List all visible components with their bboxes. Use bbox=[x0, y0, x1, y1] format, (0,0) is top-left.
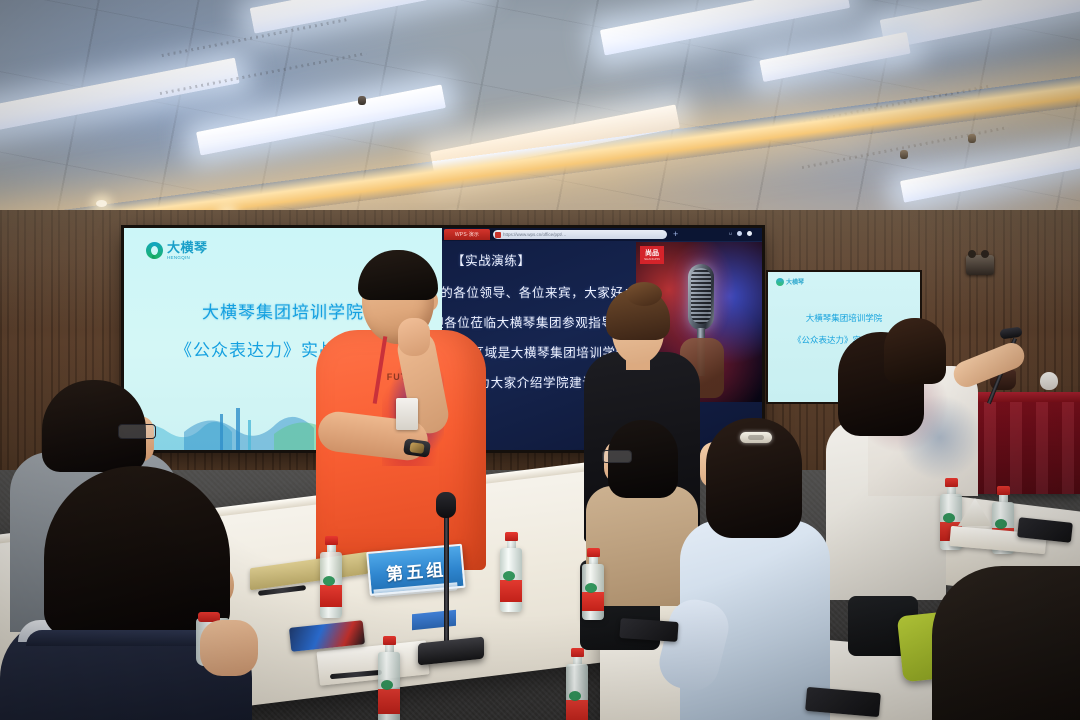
attendee-gray-top-eyeglasses bbox=[118, 424, 156, 439]
bottle-neck bbox=[327, 545, 336, 552]
gooseneck-microphone-head[interactable] bbox=[436, 492, 456, 518]
bottle-body bbox=[582, 564, 604, 620]
ceiling bbox=[0, 0, 1080, 232]
attendee-floral-blouse-hair bbox=[884, 318, 946, 384]
bottle-cap bbox=[571, 648, 584, 657]
bottle-neck bbox=[589, 557, 598, 564]
sprinkler-head bbox=[900, 150, 908, 159]
attendee-navy-polo-hair bbox=[44, 466, 230, 636]
attendee-navy-polo-hand bbox=[200, 620, 258, 676]
attendee-eyeglasses bbox=[602, 450, 632, 463]
pearl-hair-clip bbox=[740, 432, 772, 443]
bottle-neck bbox=[573, 657, 582, 664]
speaker-wristwatch bbox=[403, 438, 431, 457]
bottle-cap bbox=[945, 478, 958, 487]
prompt-heading: 【实战演练】 bbox=[452, 250, 531, 269]
bottle-body bbox=[378, 652, 400, 720]
side-logo-swirl-icon bbox=[776, 278, 784, 286]
prompt-line-2: 欢迎各位莅临大横琴集团参观指导 bbox=[442, 312, 615, 331]
mic-badge-english: SHANGPIN bbox=[644, 258, 660, 261]
bottle-body bbox=[500, 548, 522, 612]
logo-swirl-icon bbox=[146, 242, 163, 259]
bottle-neck bbox=[507, 541, 516, 548]
water-bottle[interactable] bbox=[320, 536, 342, 618]
bottle-label bbox=[500, 580, 522, 602]
bottle-label bbox=[378, 689, 400, 714]
mic-badge-chinese: 尚品 bbox=[645, 250, 659, 257]
recessed-downlight bbox=[96, 200, 107, 207]
side-screen-logo: 大横琴 bbox=[776, 277, 804, 286]
status-dot-icon bbox=[737, 231, 742, 236]
host-hair-bun bbox=[626, 282, 662, 306]
microphone-grille bbox=[691, 268, 711, 324]
teapot bbox=[1040, 372, 1058, 390]
logo-english-text: HENGQIN bbox=[167, 256, 208, 261]
bottle-body bbox=[320, 552, 342, 618]
side-logo-text: 大横琴 bbox=[786, 277, 804, 286]
favicon-icon bbox=[495, 232, 501, 238]
bottle-neck bbox=[385, 645, 394, 652]
bottle-neck bbox=[999, 495, 1008, 502]
smartphone[interactable] bbox=[619, 618, 678, 642]
bottle-label bbox=[566, 700, 588, 720]
foreground-attendee-shoulder bbox=[932, 566, 1080, 720]
screen-status-indicators: U bbox=[729, 231, 752, 236]
speaker-hand-holding-microphone bbox=[398, 318, 430, 356]
sprinkler-head bbox=[968, 134, 976, 143]
bottle-cap bbox=[325, 536, 338, 545]
new-tab-button[interactable]: + bbox=[673, 230, 678, 239]
url-text: https://www.wps.cn/office/ppt/… bbox=[503, 232, 665, 237]
hengqin-logo: 大横琴 HENGQIN bbox=[146, 241, 208, 261]
bottle-label bbox=[320, 585, 342, 607]
screen-status-label: U bbox=[729, 231, 732, 236]
water-bottle[interactable] bbox=[378, 636, 400, 720]
bottle-cap bbox=[587, 548, 600, 557]
tent-card-text: 第五组 bbox=[385, 555, 447, 585]
photograph-scene: 大横琴 HENGQIN 大横琴集团培训学院 《公众表达力》实战训练营 bbox=[0, 0, 1080, 720]
gooseneck-microphone-stem[interactable] bbox=[444, 500, 449, 648]
status-dot-icon bbox=[747, 231, 752, 236]
speaker-id-badge bbox=[396, 398, 418, 430]
prompt-line-1: 尊敬的各位领导、各位来宾，大家好： bbox=[442, 282, 637, 301]
mic-image-badge: 尚品 SHANGPIN bbox=[640, 246, 664, 264]
browser-url-bar[interactable]: https://www.wps.cn/office/ppt/… bbox=[493, 230, 667, 239]
bottle-cap bbox=[383, 636, 396, 645]
water-bottle[interactable] bbox=[500, 532, 522, 612]
sprinkler-head bbox=[358, 96, 366, 105]
wall-speaker bbox=[966, 255, 994, 275]
bottle-cap bbox=[505, 532, 518, 541]
bottle-body bbox=[566, 664, 588, 720]
browser-tab-bar[interactable]: WPS·演示 https://www.wps.cn/office/ppt/… + bbox=[442, 228, 762, 241]
water-bottle[interactable] bbox=[582, 548, 604, 620]
water-bottle[interactable] bbox=[566, 648, 588, 720]
browser-tab-active[interactable]: WPS·演示 bbox=[444, 229, 490, 240]
bottle-neck bbox=[947, 487, 956, 494]
bottle-cap bbox=[997, 486, 1010, 495]
bottle-label bbox=[582, 592, 604, 611]
logo-chinese-text: 大横琴 bbox=[167, 241, 208, 254]
